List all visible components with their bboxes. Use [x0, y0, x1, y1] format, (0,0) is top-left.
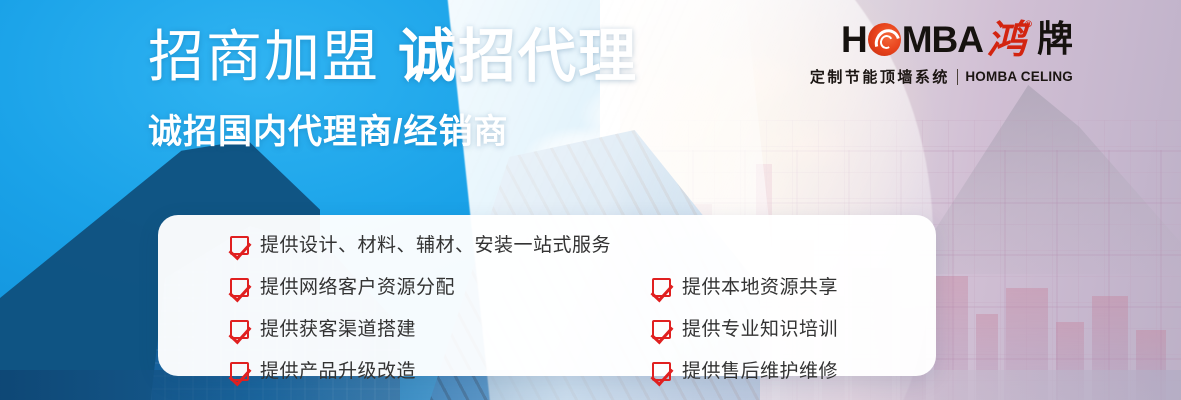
feature-item: 提供售后维护维修	[652, 355, 922, 388]
checkbox-checked-icon	[230, 320, 249, 339]
logo-swirl-icon	[868, 23, 901, 56]
banner-headline: 招商加盟诚招代理	[148, 28, 638, 86]
headline-emphasis: 诚招代理	[398, 24, 638, 89]
features-card: 提供设计、材料、辅材、安装一站式服务 提供网络客户资源分配 提供获客渠道搭建 提…	[158, 215, 936, 376]
feature-label: 提供专业知识培训	[682, 320, 838, 339]
logo-wordmark-row: H MBA 鸿® 牌	[810, 18, 1073, 60]
features-columns: 提供设计、材料、辅材、安装一站式服务 提供网络客户资源分配 提供获客渠道搭建 提…	[158, 215, 936, 376]
logo-tagline-en: HOMBA CELING	[965, 69, 1073, 84]
feature-item: 提供本地资源共享	[652, 271, 922, 304]
feature-label: 提供本地资源共享	[682, 278, 838, 297]
checkbox-checked-icon	[652, 320, 671, 339]
logo-tagline-cn: 定制节能顶墙系统	[810, 66, 950, 87]
feature-item: 提供设计、材料、辅材、安装一站式服务	[230, 229, 660, 262]
features-left-column: 提供设计、材料、辅材、安装一站式服务 提供网络客户资源分配 提供获客渠道搭建 提…	[230, 229, 660, 397]
checkbox-checked-icon	[230, 278, 249, 297]
logo-tagline-row: 定制节能顶墙系统 HOMBA CELING	[810, 66, 1073, 87]
feature-item: 提供获客渠道搭建	[230, 313, 660, 346]
feature-label: 提供设计、材料、辅材、安装一站式服务	[260, 236, 611, 255]
checkbox-checked-icon	[230, 362, 249, 381]
logo-letters-mba: MBA	[902, 21, 983, 58]
checkbox-checked-icon	[652, 278, 671, 297]
promo-banner: 招商加盟诚招代理 诚招国内代理商/经销商 H MBA 鸿® 牌 定制节能顶墙系统…	[0, 0, 1181, 400]
feature-label: 提供产品升级改造	[260, 362, 416, 381]
feature-label: 提供网络客户资源分配	[260, 278, 455, 297]
feature-item: 提供网络客户资源分配	[230, 271, 660, 304]
logo-hong-glyph: 鸿	[987, 17, 1026, 63]
logo-letter-h: H	[841, 21, 867, 58]
checkbox-checked-icon	[652, 362, 671, 381]
feature-label: 提供获客渠道搭建	[260, 320, 416, 339]
headline-primary: 招商加盟	[148, 25, 380, 88]
feature-item: 提供产品升级改造	[230, 355, 660, 388]
registered-trademark-icon: ®	[1024, 20, 1033, 30]
feature-item: 提供专业知识培训	[652, 313, 922, 346]
features-right-column: 提供本地资源共享 提供专业知识培训 提供售后维护维修	[652, 229, 922, 397]
logo-brand-char-hong: 鸿®	[987, 21, 1035, 60]
logo-wordmark: H MBA	[841, 21, 983, 58]
feature-label: 提供售后维护维修	[682, 362, 838, 381]
checkbox-checked-icon	[230, 236, 249, 255]
logo-brand-char-pai: 牌	[1037, 21, 1073, 57]
banner-subheadline: 诚招国内代理商/经销商	[148, 104, 508, 153]
logo-tagline-divider	[957, 69, 959, 85]
brand-logo[interactable]: H MBA 鸿® 牌 定制节能顶墙系统 HOMBA CELING	[810, 18, 1073, 87]
